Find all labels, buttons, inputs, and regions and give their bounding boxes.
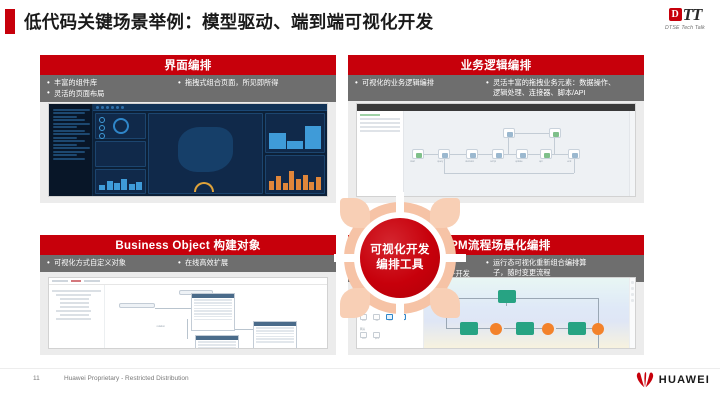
- dtt-square-icon: D: [669, 8, 682, 21]
- bullet-item: 可视化方式自定义对象: [46, 258, 171, 268]
- dtt-letters: TT: [683, 7, 702, 22]
- panel-bullets-ui: 丰富的组件库 灵活的页面布局 拖拽式组合页面，所见即所得: [40, 75, 336, 102]
- panel-title-ui: 界面编排: [40, 55, 336, 75]
- flw-canvas: start query decision script update api e…: [404, 111, 629, 196]
- dtt-logo: D TT DTSE Tech Talk: [656, 5, 714, 35]
- dtt-tagline: DTSE Tech Talk: [656, 25, 714, 31]
- er-toolbar: [49, 278, 327, 285]
- screenshot-bi-dashboard: [48, 103, 328, 197]
- center-badge: 可视化开发 编排工具: [338, 196, 462, 320]
- er-object-tree: [49, 285, 105, 348]
- center-circle: 可视化开发 编排工具: [360, 218, 440, 298]
- flw-palette: [357, 111, 404, 196]
- screenshot-logic-flow: start query decision script update api e…: [356, 103, 636, 197]
- bullet-item: 灵活的页面布局: [46, 89, 171, 99]
- panel-bullets-object: 可视化方式自定义对象 在线高效扩展: [40, 255, 336, 272]
- quadrant-grid: 界面编排 丰富的组件库 灵活的页面布局 拖拽式组合页面，所见即所得: [40, 55, 680, 355]
- page-number: 11: [33, 375, 40, 382]
- center-line-1: 可视化开发: [370, 243, 430, 258]
- bi-bar-chart-card: [265, 155, 325, 195]
- huawei-flower-icon: [635, 372, 655, 388]
- bullet-item: 运行态可视化重新组合编排算 子，随时变更流程: [485, 258, 638, 277]
- flw-titlebar: [357, 104, 635, 111]
- bpm-right-rail: [629, 278, 635, 348]
- bi-kpi-card: [265, 113, 325, 153]
- bullet-item: 在线高效扩展: [177, 258, 330, 268]
- bullet-item: 可视化的业务逻辑编排: [354, 78, 479, 88]
- center-line-2: 编排工具: [376, 258, 424, 273]
- bi-list-card: [95, 141, 145, 167]
- bullet-item: 丰富的组件库: [46, 78, 171, 88]
- panel-business-object: Business Object 构建对象 可视化方式自定义对象 在线高效扩展: [40, 235, 336, 355]
- slide-canvas: 低代码关键场景举例：模型驱动、端到端可视化开发 D TT DTSE Tech T…: [0, 0, 720, 405]
- footer-notice: Huawei Proprietary - Restricted Distribu…: [64, 375, 189, 382]
- panel-title-logic: 业务逻辑编排: [348, 55, 644, 75]
- screenshot-object-model: relation: [48, 277, 328, 349]
- bi-gauge-card: [95, 113, 145, 139]
- bi-mini-bar-card: [95, 169, 145, 195]
- panel-bullets-logic: 可视化的业务逻辑编排 灵活丰富的拖拽业务元素：数据操作、 逻辑处理、连接器、脚本…: [348, 75, 644, 101]
- flw-right-rail: [629, 111, 635, 196]
- huawei-wordmark: HUAWEI: [659, 374, 710, 386]
- bullet-item: 灵活丰富的拖拽业务元素：数据操作、 逻辑处理、连接器、脚本/API: [485, 78, 638, 97]
- dtt-logo-mark: D TT: [656, 5, 714, 24]
- panel-business-logic: 业务逻辑编排 可视化的业务逻辑编排 灵活丰富的拖拽业务元素：数据操作、 逻辑处理…: [348, 55, 644, 203]
- bullet-item: 拖拽式组合页面，所见即所得: [177, 78, 330, 88]
- panel-ui-orchestration: 界面编排 丰富的组件库 灵活的页面布局 拖拽式组合页面，所见即所得: [40, 55, 336, 203]
- footer-divider: [0, 368, 720, 369]
- bi-sidebar: [49, 104, 93, 196]
- huawei-logo: HUAWEI: [635, 372, 710, 388]
- er-canvas: relation: [105, 285, 327, 348]
- bi-toolbar: [93, 104, 327, 111]
- bi-map-card: [148, 113, 263, 194]
- title-accent-bar: [5, 9, 15, 34]
- panel-title-object: Business Object 构建对象: [40, 235, 336, 255]
- page-title: 低代码关键场景举例：模型驱动、端到端可视化开发: [24, 9, 433, 34]
